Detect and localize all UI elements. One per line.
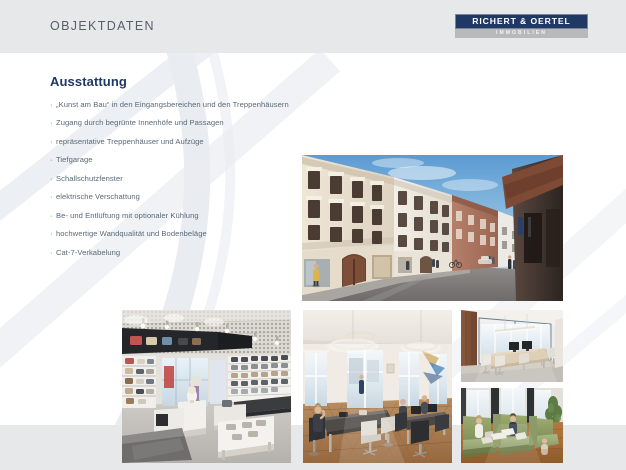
list-item: · „Kunst am Bau“ in den Eingangsbereiche… (50, 100, 292, 110)
bullet-marker-icon: · (50, 192, 53, 202)
list-item: · Be- und Entlüftung mit optionaler Kühl… (50, 211, 292, 221)
photo-lounge-booths (461, 388, 563, 463)
list-item: · Schallschutzfenster (50, 174, 292, 184)
list-item: · Tiefgarage (50, 155, 292, 165)
slide-content: Ausstattung · „Kunst am Bau“ in den Eing… (0, 53, 626, 425)
bullet-marker-icon: · (50, 248, 53, 258)
photo-open-plan-office (303, 310, 452, 463)
bullet-marker-icon: · (50, 155, 53, 165)
feature-list: · „Kunst am Bau“ in den Eingangsbereiche… (50, 100, 292, 266)
list-item-label: Be- und Entlüftung mit optionaler Kühlun… (56, 211, 199, 220)
logo-tagline: IMMOBILIEN (496, 31, 547, 36)
bullet-marker-icon: · (50, 174, 53, 184)
photo-retail-store-interior (122, 310, 291, 463)
photo-street-view-facade (302, 155, 563, 301)
list-item: · elektrische Verschattung (50, 192, 292, 202)
logo-primary-bar: RICHERT & OERTEL (455, 14, 588, 29)
list-item-label: repräsentative Treppenhäuser und Aufzüge (56, 137, 204, 146)
bullet-marker-icon: · (50, 211, 53, 221)
list-item-label: „Kunst am Bau“ in den Eingangsbereichen … (56, 100, 289, 109)
logo-secondary-bar: IMMOBILIEN (455, 29, 588, 38)
list-item-label: Zugang durch begrünte Innenhöfe und Pass… (56, 118, 224, 127)
company-logo: RICHERT & OERTEL IMMOBILIEN (455, 14, 588, 39)
presentation-slide: OBJEKTDATEN RICHERT & OERTEL IMMOBILIEN … (0, 0, 626, 470)
list-item: · hochwertige Wandqualität und Bodenbelä… (50, 229, 292, 239)
page-title: OBJEKTDATEN (50, 19, 155, 33)
list-item-label: elektrische Verschattung (56, 192, 140, 201)
bullet-marker-icon: · (50, 137, 53, 147)
list-item-label: hochwertige Wandqualität und Bodenbeläge (56, 229, 207, 238)
list-item: · repräsentative Treppenhäuser und Aufzü… (50, 137, 292, 147)
list-item: · Cat-7-Verkabelung (50, 248, 292, 258)
list-item-label: Cat-7-Verkabelung (56, 248, 120, 257)
list-item-label: Schallschutzfenster (56, 174, 123, 183)
bullet-marker-icon: · (50, 100, 53, 110)
section-heading: Ausstattung (50, 74, 127, 89)
list-item: · Zugang durch begrünte Innenhöfe und Pa… (50, 118, 292, 128)
list-item-label: Tiefgarage (56, 155, 93, 164)
photo-meeting-room (461, 310, 563, 382)
slide-header: OBJEKTDATEN RICHERT & OERTEL IMMOBILIEN (0, 0, 626, 53)
bullet-marker-icon: · (50, 229, 53, 239)
bullet-marker-icon: · (50, 118, 53, 128)
logo-company-name: RICHERT & OERTEL (472, 17, 570, 26)
